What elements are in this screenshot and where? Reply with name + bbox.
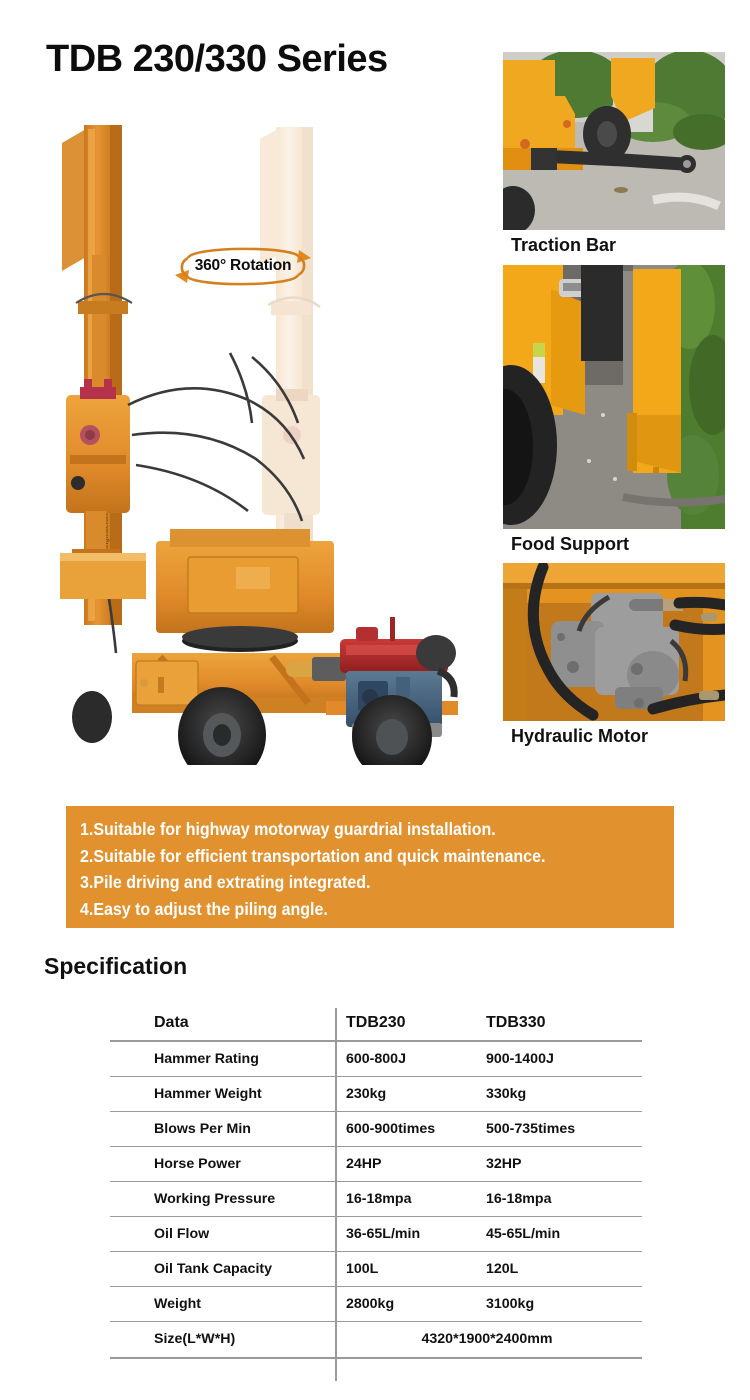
product-spec-sheet: TDB 230/330 Series bbox=[0, 0, 750, 1400]
row-value-tdb330: 32HP bbox=[472, 1146, 642, 1181]
row-value-tdb330: 120L bbox=[472, 1251, 642, 1286]
table-row: Hammer Rating 600-800J 900-1400J bbox=[110, 1041, 642, 1076]
table-row: Blows Per Min 600-900times 500-735times bbox=[110, 1111, 642, 1146]
row-label: Weight bbox=[110, 1286, 332, 1321]
row-value-tdb230: 600-900times bbox=[332, 1111, 472, 1146]
row-value-tdb230: 16-18mpa bbox=[332, 1181, 472, 1216]
detail-photo-column: Traction Bar bbox=[503, 52, 725, 756]
specification-table-wrap: Data TDB230 TDB330 Hammer Rating 600-800… bbox=[110, 1006, 642, 1359]
table-row: Weight 2800kg 3100kg bbox=[110, 1286, 642, 1321]
row-value-tdb330: 500-735times bbox=[472, 1111, 642, 1146]
features-panel: 1.Suitable for highway motorway guardria… bbox=[66, 806, 674, 928]
row-label: Hammer Rating bbox=[110, 1041, 332, 1076]
rotation-badge: 360° Rotation bbox=[158, 238, 328, 294]
photo-block-hydraulic-motor: Hydraulic Motor bbox=[503, 563, 725, 748]
row-value-tdb230: 24HP bbox=[332, 1146, 472, 1181]
column-header-tdb330: TDB330 bbox=[472, 1006, 642, 1041]
table-row: Working Pressure 16-18mpa 16-18mpa bbox=[110, 1181, 642, 1216]
row-value-merged: 4320*1900*2400mm bbox=[332, 1321, 642, 1358]
photo-traction-bar bbox=[503, 52, 725, 230]
row-value-tdb330: 45-65L/min bbox=[472, 1216, 642, 1251]
table-row: Horse Power 24HP 32HP bbox=[110, 1146, 642, 1181]
row-label: Oil Flow bbox=[110, 1216, 332, 1251]
rotation-badge-label: 360° Rotation bbox=[158, 238, 328, 294]
row-label: Size(L*W*H) bbox=[110, 1321, 332, 1358]
photo-caption-traction-bar: Traction Bar bbox=[511, 235, 725, 257]
column-header-data: Data bbox=[110, 1006, 332, 1041]
row-value-tdb230: 230kg bbox=[332, 1076, 472, 1111]
row-value-tdb230: 36-65L/min bbox=[332, 1216, 472, 1251]
row-label: Blows Per Min bbox=[110, 1111, 332, 1146]
table-row: Hammer Weight 230kg 330kg bbox=[110, 1076, 642, 1111]
row-value-tdb330: 330kg bbox=[472, 1076, 642, 1111]
photo-block-traction-bar: Traction Bar bbox=[503, 52, 725, 257]
row-value-tdb330: 16-18mpa bbox=[472, 1181, 642, 1216]
page-title: TDB 230/330 Series bbox=[46, 40, 388, 78]
row-value-tdb330: 3100kg bbox=[472, 1286, 642, 1321]
specification-heading: Specification bbox=[44, 953, 187, 980]
row-value-tdb230: 600-800J bbox=[332, 1041, 472, 1076]
specification-table: Data TDB230 TDB330 Hammer Rating 600-800… bbox=[110, 1006, 642, 1359]
photo-caption-foot-support: Food Support bbox=[511, 534, 725, 556]
table-row: Oil Flow 36-65L/min 45-65L/min bbox=[110, 1216, 642, 1251]
machine-hero-image: TDB230/TDB330 GUARDRAIL PILE DRIVER www.… bbox=[40, 105, 480, 765]
main-mast: TDB230/TDB330 GUARDRAIL PILE DRIVER www.… bbox=[62, 125, 132, 625]
pile-driver-illustration: TDB230/TDB330 GUARDRAIL PILE DRIVER www.… bbox=[40, 105, 480, 765]
table-row-merged: Size(L*W*H) 4320*1900*2400mm bbox=[110, 1321, 642, 1358]
feature-item-3: 3.Pile driving and extrating integrated. bbox=[80, 869, 632, 896]
row-value-tdb330: 900-1400J bbox=[472, 1041, 642, 1076]
feature-item-1: 1.Suitable for highway motorway guardria… bbox=[80, 816, 632, 843]
row-label: Working Pressure bbox=[110, 1181, 332, 1216]
feature-item-4: 4.Easy to adjust the piling angle. bbox=[80, 896, 632, 923]
row-label: Horse Power bbox=[110, 1146, 332, 1181]
row-value-tdb230: 100L bbox=[332, 1251, 472, 1286]
table-row: Oil Tank Capacity 100L 120L bbox=[110, 1251, 642, 1286]
table-header-row: Data TDB230 TDB330 bbox=[110, 1006, 642, 1041]
feature-item-2: 2.Suitable for efficient transportation … bbox=[80, 843, 632, 870]
row-label: Oil Tank Capacity bbox=[110, 1251, 332, 1286]
photo-caption-hydraulic-motor: Hydraulic Motor bbox=[511, 726, 725, 748]
column-header-tdb230: TDB230 bbox=[332, 1006, 472, 1041]
photo-hydraulic-motor bbox=[503, 563, 725, 721]
row-label: Hammer Weight bbox=[110, 1076, 332, 1111]
table-column-divider bbox=[335, 1008, 337, 1381]
photo-block-foot-support: Food Support bbox=[503, 265, 725, 556]
photo-foot-support bbox=[503, 265, 725, 529]
row-value-tdb230: 2800kg bbox=[332, 1286, 472, 1321]
